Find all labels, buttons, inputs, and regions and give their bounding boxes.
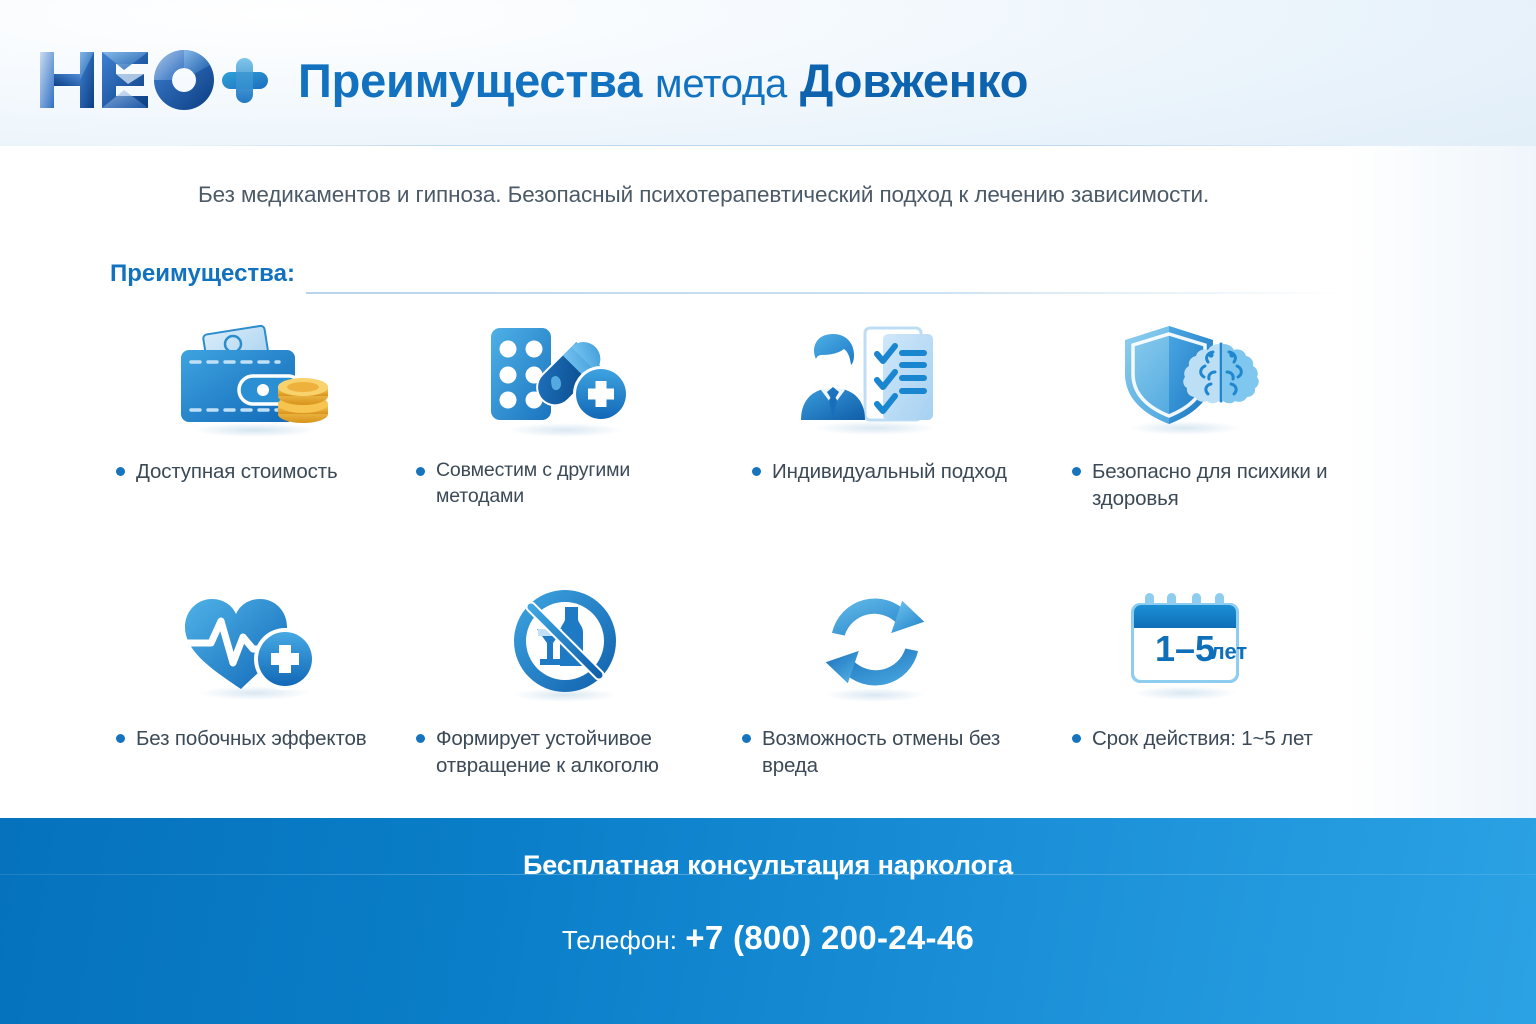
bullet-dot-icon	[1072, 467, 1081, 476]
bullet-dot-icon	[116, 734, 125, 743]
wallet-coins-icon	[100, 312, 410, 438]
footer: Бесплатная консультация нарколога Телефо…	[0, 818, 1536, 1024]
neo-plus-logo-icon	[36, 44, 272, 116]
benefit-item-availability: Доступная стоимость	[100, 312, 410, 513]
benefit-label: Безопасно для психики и здоровья	[1092, 458, 1334, 513]
phone-label: Телефон:	[562, 925, 677, 955]
benefit-caption: Совместим с другими методами	[410, 458, 720, 510]
benefit-caption: Индивидуальный подход	[720, 458, 1030, 485]
bullet-dot-icon	[752, 467, 761, 476]
header: Преимущества метода Довженко	[0, 0, 1536, 146]
bullet-dot-icon	[116, 467, 125, 476]
benefit-label: Совместим с другими методами	[436, 458, 714, 510]
page-title: Преимущества метода Довженко	[298, 57, 1028, 104]
benefits-row: Доступная стоимость	[100, 312, 1430, 513]
phone-number[interactable]: +7 (800) 200-24-46	[685, 919, 974, 956]
benefit-label: Индивидуальный подход	[772, 458, 1007, 485]
benefit-item-compatible: Совместим с другими методами	[410, 312, 720, 513]
header-content: Преимущества метода Довженко	[36, 44, 1028, 116]
benefit-label: Доступная стоимость	[136, 458, 337, 485]
benefit-caption: Доступная стоимость	[100, 458, 410, 485]
benefit-item-individual: Индивидуальный подход	[720, 312, 1030, 513]
benefit-caption: Срок действия: 1~5 лет	[1030, 725, 1340, 752]
benefit-item-reversible: Возможность отмены без вреда	[720, 579, 1030, 780]
benefits-grid: Доступная стоимость	[100, 312, 1430, 779]
benefit-caption: Безопасно для психики и здоровья	[1030, 458, 1340, 513]
subtitle: Без медикаментов и гипноза. Безопасный п…	[198, 182, 1358, 208]
footer-phone: Телефон: +7 (800) 200-24-46	[0, 919, 1536, 957]
benefit-item-no-side-effects: Без побочных эффектов	[100, 579, 410, 780]
infographic-page: Преимущества метода Довженко Без медикам…	[0, 0, 1536, 1024]
no-alcohol-icon	[410, 579, 720, 705]
benefit-label: Срок действия: 1~5 лет	[1092, 725, 1313, 752]
section-label: Преимущества:	[110, 260, 295, 288]
benefit-caption: Без побочных эффектов	[100, 725, 410, 752]
refresh-arrows-icon	[720, 579, 1030, 705]
benefit-label: Формирует устойчивое отвращение к алкого…	[436, 725, 714, 780]
benefit-item-safe: Безопасно для психики и здоровья	[1030, 312, 1340, 513]
heart-pulse-plus-icon	[100, 579, 410, 705]
benefit-item-duration: 1–5 лет Срок действия: 1~5 лет	[1030, 579, 1340, 780]
title-regular: метода	[655, 62, 787, 106]
section-divider	[306, 292, 1344, 294]
calendar-icon: 1–5 лет	[1030, 579, 1340, 705]
benefit-caption: Формирует устойчивое отвращение к алкого…	[410, 725, 720, 780]
title-bold-first: Преимущества	[298, 54, 642, 107]
bullet-dot-icon	[1072, 734, 1081, 743]
pills-capsule-plus-icon	[410, 312, 720, 438]
bullet-dot-icon	[742, 734, 751, 743]
benefit-caption: Возможность отмены без вреда	[720, 725, 1030, 780]
shield-brain-icon	[1030, 312, 1340, 438]
bullet-dot-icon	[416, 734, 425, 743]
benefit-label: Без побочных эффектов	[136, 725, 366, 752]
benefit-item-alcohol-aversion: Формирует устойчивое отвращение к алкого…	[410, 579, 720, 780]
benefit-label: Возможность отмены без вреда	[762, 725, 1024, 780]
doctor-checklist-icon	[720, 312, 1030, 438]
footer-heading: Бесплатная консультация нарколога	[0, 850, 1536, 881]
calendar-badge-number: 1–5	[1155, 628, 1215, 669]
calendar-badge-unit: лет	[1211, 639, 1248, 664]
bullet-dot-icon	[416, 467, 425, 476]
benefits-row: Без побочных эффектов	[100, 579, 1430, 780]
title-bold-second: Довженко	[800, 54, 1028, 107]
